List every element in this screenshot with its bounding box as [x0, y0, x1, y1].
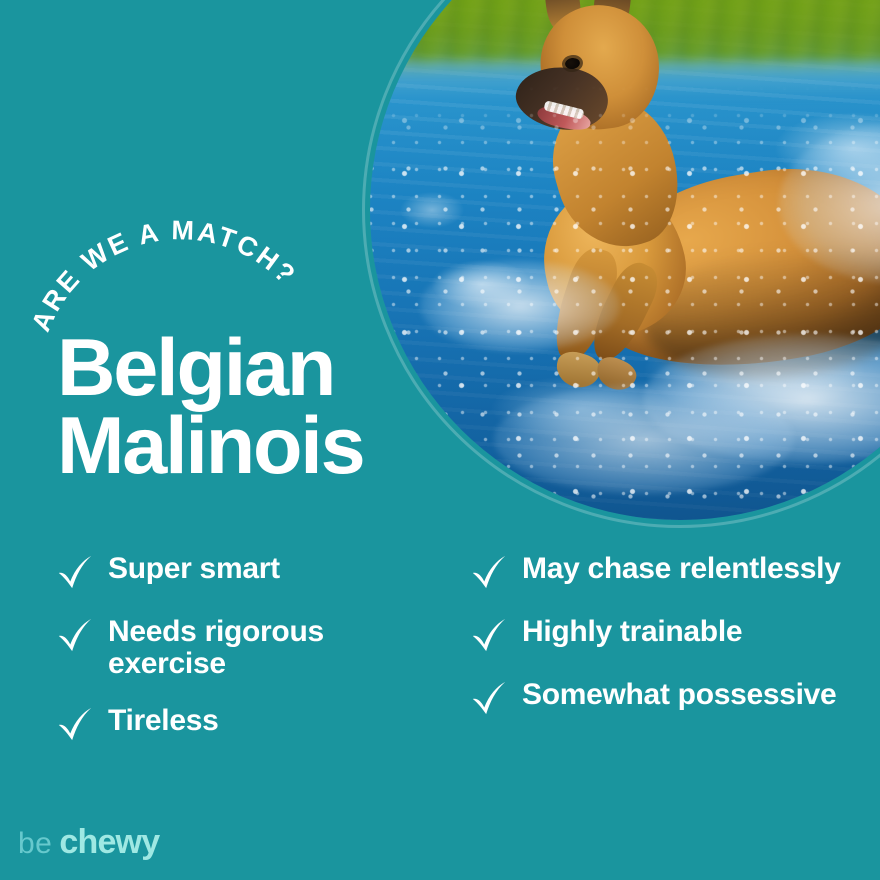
logo-prefix: be — [18, 827, 52, 861]
check-icon — [470, 553, 508, 591]
check-icon — [470, 616, 508, 654]
breed-info-card: ARE WE A MATCH? Belgian Malinois Super s… — [0, 0, 880, 880]
check-icon — [56, 705, 94, 743]
logo-wordmark: chewy — [59, 823, 159, 862]
trait-label: Tireless — [108, 704, 218, 737]
trait-label: May chase relentlessly — [522, 552, 841, 585]
trait-item: Somewhat possessive — [470, 678, 856, 717]
kicker-label: ARE WE A MATCH? — [26, 215, 303, 336]
brand-logo[interactable]: be chewy — [18, 823, 159, 862]
page-title-line-2: Malinois — [57, 408, 477, 486]
page-title-line-1: Belgian — [57, 323, 334, 413]
trait-column-right: May chase relentlessly Highly trainable … — [470, 552, 856, 767]
check-icon — [470, 679, 508, 717]
trait-label: Needs rigorous exercise — [108, 615, 442, 680]
trait-item: May chase relentlessly — [470, 552, 856, 591]
trait-label: Somewhat possessive — [522, 678, 836, 711]
trait-item: Needs rigorous exercise — [56, 615, 442, 680]
trait-item: Tireless — [56, 704, 442, 743]
trait-item: Super smart — [56, 552, 442, 591]
trait-label: Highly trainable — [522, 615, 742, 648]
check-icon — [56, 553, 94, 591]
trait-item: Highly trainable — [470, 615, 856, 654]
page-title: Belgian Malinois — [57, 330, 477, 486]
trait-lists: Super smart Needs rigorous exercise Tire… — [56, 552, 856, 767]
check-icon — [56, 616, 94, 654]
trait-label: Super smart — [108, 552, 280, 585]
trait-column-left: Super smart Needs rigorous exercise Tire… — [56, 552, 442, 767]
